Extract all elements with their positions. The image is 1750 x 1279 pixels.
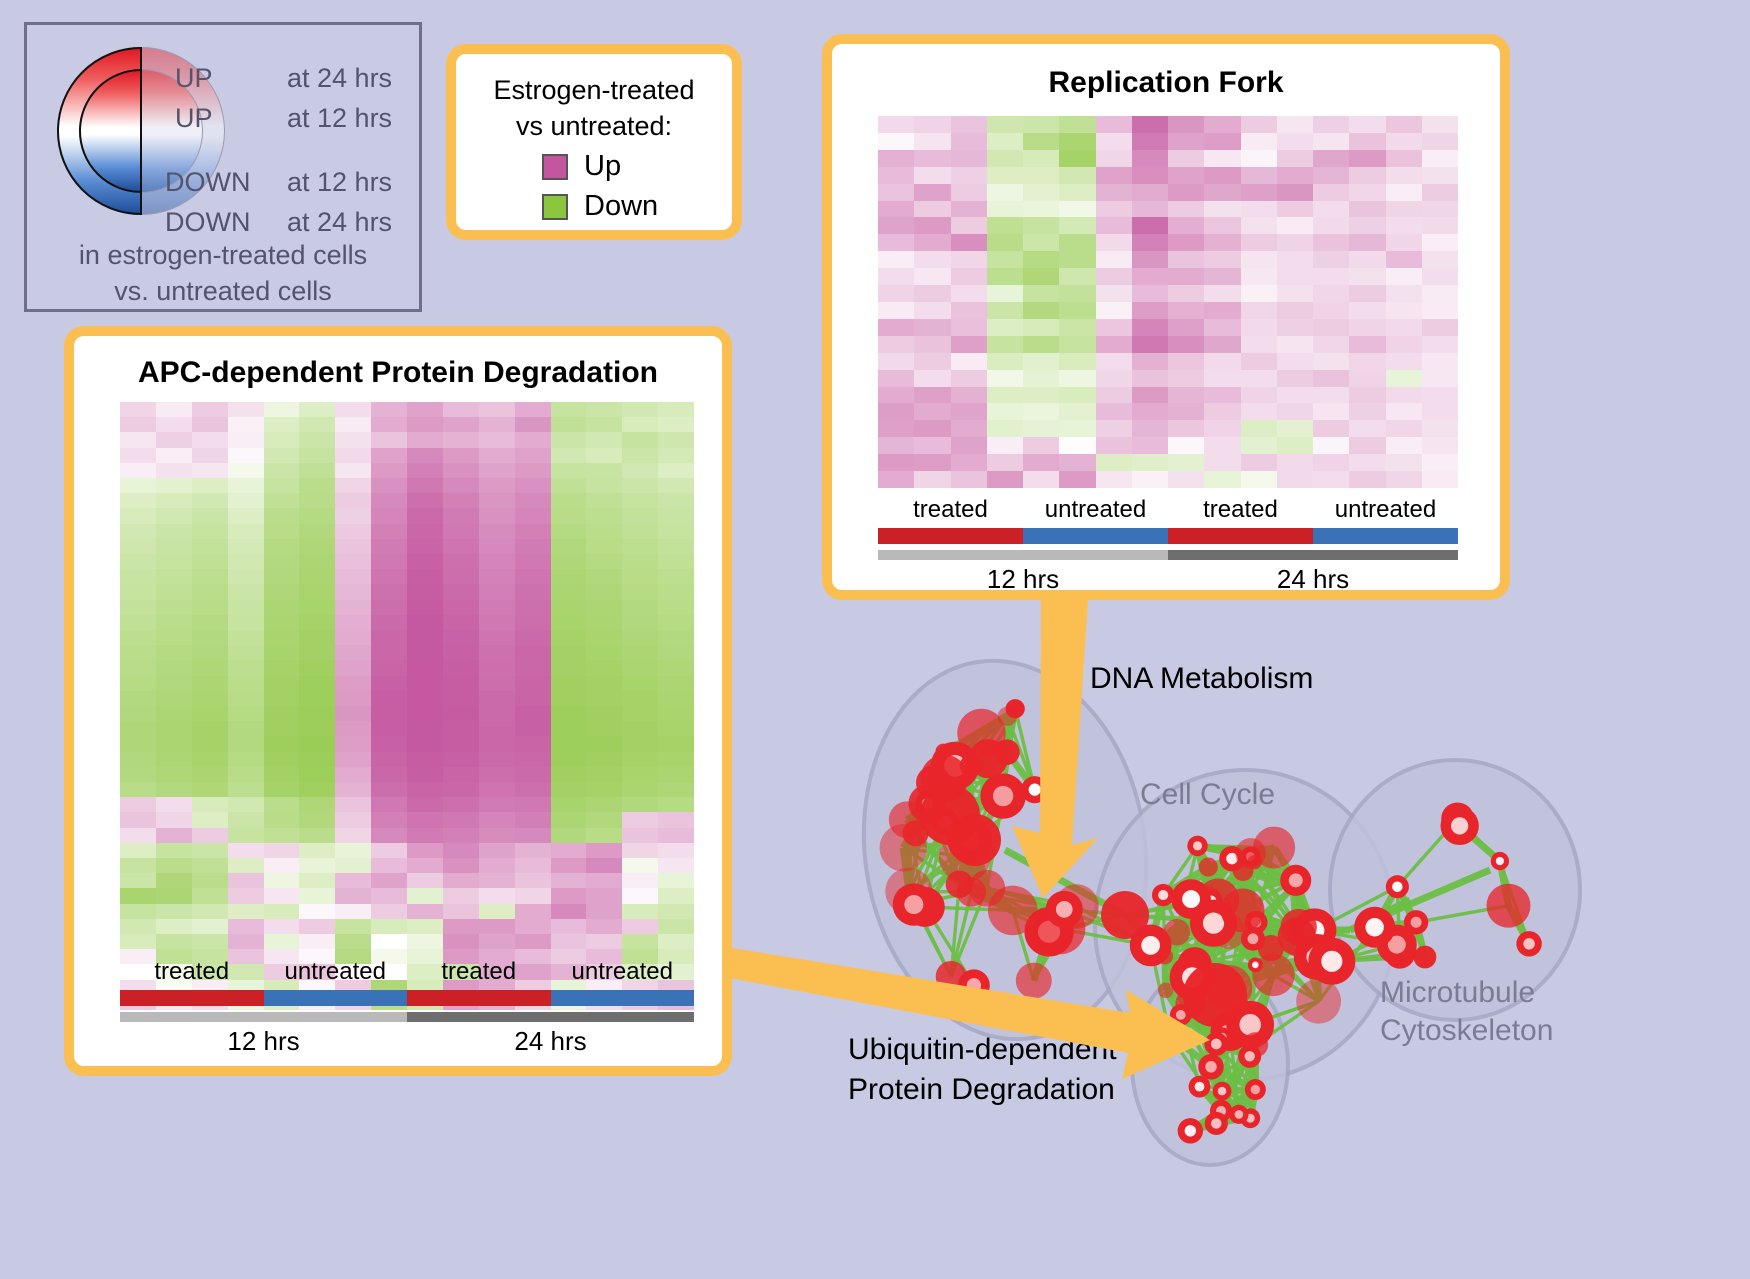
heatmap-cell bbox=[1313, 437, 1349, 454]
heatmap-cell bbox=[407, 752, 443, 767]
heatmap-cell bbox=[407, 691, 443, 706]
network-edge bbox=[1250, 1025, 1255, 1090]
network-edge bbox=[903, 848, 965, 857]
network-edge bbox=[933, 783, 945, 822]
heatmap-cell bbox=[586, 569, 622, 584]
network-edge bbox=[1163, 867, 1208, 895]
network-edge bbox=[1253, 939, 1317, 957]
heatmap-cell bbox=[192, 767, 228, 782]
heatmap-cell bbox=[1386, 471, 1422, 488]
network-edge bbox=[1177, 932, 1229, 933]
network-edge bbox=[1218, 900, 1243, 911]
heatmap-cell bbox=[1422, 353, 1458, 370]
heatmap-cell bbox=[479, 873, 515, 888]
heatmap-cell bbox=[407, 782, 443, 797]
heatmap-cell bbox=[1132, 387, 1168, 404]
heatmap-cell bbox=[228, 600, 264, 615]
network-edge bbox=[1192, 932, 1229, 978]
network-edge bbox=[1191, 964, 1195, 1003]
heatmap-cell bbox=[914, 353, 950, 370]
updown-title-line2: vs untreated: bbox=[456, 108, 732, 144]
heatmap-cell bbox=[228, 828, 264, 843]
network-edge bbox=[909, 815, 950, 891]
heatmap-cell bbox=[192, 828, 228, 843]
heatmap-cell bbox=[228, 691, 264, 706]
heatmap-cell bbox=[1386, 454, 1422, 471]
heatmap-cell bbox=[914, 167, 950, 184]
heatmap-cell bbox=[622, 645, 658, 660]
heatmap-cell bbox=[914, 454, 950, 471]
cluster-halo-dna-metabolism bbox=[840, 642, 1170, 1057]
network-edge bbox=[1243, 871, 1253, 939]
heatmap-cell bbox=[443, 584, 479, 599]
network-edge bbox=[933, 783, 1003, 796]
network-edge bbox=[943, 733, 981, 751]
network-node bbox=[1491, 852, 1509, 870]
heatmap-cell bbox=[1132, 437, 1168, 454]
treatment-segment-1 bbox=[264, 990, 408, 1006]
cluster-halo-ubiquitin bbox=[1132, 965, 1288, 1165]
heatmap-cell bbox=[1277, 319, 1313, 336]
network-bridge-edge bbox=[1125, 915, 1215, 995]
heatmap-cell bbox=[878, 133, 914, 150]
network-edge bbox=[1201, 919, 1255, 965]
heatmap-cell bbox=[228, 888, 264, 903]
network-edge bbox=[1163, 895, 1213, 923]
network-node bbox=[1191, 909, 1211, 929]
network-node bbox=[1016, 963, 1052, 999]
network-node-core bbox=[1187, 956, 1202, 971]
network-edge bbox=[1211, 1067, 1239, 1115]
network-edge bbox=[1209, 859, 1232, 899]
apc-title: APC-dependent Protein Degradation bbox=[74, 356, 722, 390]
heatmap-cell bbox=[515, 828, 551, 843]
network-edge bbox=[1198, 846, 1243, 910]
network-edge bbox=[950, 759, 988, 815]
heatmap-cell bbox=[658, 797, 694, 812]
heatmap-cell bbox=[192, 660, 228, 675]
heatmap-cell bbox=[987, 268, 1023, 285]
heatmap-cell bbox=[120, 721, 156, 736]
network-node-core bbox=[1195, 1082, 1205, 1092]
time-segment-1 bbox=[407, 1012, 694, 1022]
heatmap-cell bbox=[1349, 133, 1385, 150]
heatmap-cell bbox=[479, 402, 515, 417]
heatmap-cell bbox=[1386, 403, 1422, 420]
network-node bbox=[1164, 919, 1190, 945]
network-edge bbox=[1199, 1056, 1249, 1086]
heatmap-cell bbox=[1059, 437, 1095, 454]
network-edge bbox=[1177, 922, 1256, 932]
network-node-core bbox=[1211, 1118, 1221, 1128]
network-edge bbox=[1177, 932, 1253, 939]
network-edge bbox=[1243, 880, 1296, 910]
network-edge bbox=[903, 840, 975, 848]
heatmap-cell bbox=[1422, 319, 1458, 336]
heatmap-cell bbox=[515, 645, 551, 660]
heatmap-cell bbox=[1204, 370, 1240, 387]
network-node-core bbox=[922, 798, 933, 809]
network-edge bbox=[909, 822, 945, 891]
network-edge bbox=[1211, 901, 1242, 911]
heatmap-cell bbox=[156, 478, 192, 493]
heatmap-cell bbox=[371, 782, 407, 797]
heatmap-cell bbox=[658, 843, 694, 858]
heatmap-cell bbox=[515, 706, 551, 721]
heatmap-cell bbox=[479, 858, 515, 873]
network-node-core bbox=[1235, 1110, 1244, 1119]
heatmap-cell bbox=[192, 752, 228, 767]
treatment-segment-3 bbox=[551, 990, 695, 1006]
network-bridge-edge bbox=[1215, 930, 1260, 995]
heatmap-cell bbox=[120, 660, 156, 675]
network-edge bbox=[1209, 898, 1214, 923]
network-node-core bbox=[1158, 890, 1168, 900]
updown-title-line1: Estrogen-treated bbox=[456, 72, 732, 108]
heatmap-cell bbox=[228, 539, 264, 554]
figure-canvas: UP at 24 hrs UP at 12 hrs DOWN at 12 hrs… bbox=[0, 0, 1750, 1279]
heatmap-cell bbox=[156, 569, 192, 584]
heatmap-cell bbox=[1096, 370, 1132, 387]
heatmap-cell bbox=[1422, 251, 1458, 268]
heatmap-cell bbox=[1422, 387, 1458, 404]
heatmap-cell bbox=[1096, 150, 1132, 167]
heatmap-cell bbox=[299, 782, 335, 797]
heatmap-cell bbox=[443, 736, 479, 751]
heatmap-cell bbox=[156, 736, 192, 751]
network-edge bbox=[1251, 853, 1296, 880]
heatmap-cell bbox=[586, 752, 622, 767]
heatmap-cell bbox=[987, 420, 1023, 437]
heatmap-cell bbox=[1096, 302, 1132, 319]
heatmap-cell bbox=[443, 417, 479, 432]
heatmap-cell bbox=[443, 858, 479, 873]
rf-group-label-1: untreated bbox=[1023, 496, 1168, 524]
heatmap-cell bbox=[407, 645, 443, 660]
heatmap-cell bbox=[515, 539, 551, 554]
heatmap-cell bbox=[622, 934, 658, 949]
heatmap-cell bbox=[1241, 403, 1277, 420]
wheel-footer-line2: vs. untreated cells bbox=[27, 273, 419, 309]
network-edge bbox=[1251, 853, 1255, 862]
network-node bbox=[1280, 865, 1311, 896]
network-edge bbox=[950, 766, 955, 815]
heatmap-cell bbox=[1168, 336, 1204, 353]
network-edge bbox=[927, 796, 1003, 803]
heatmap-cell bbox=[551, 569, 587, 584]
heatmap-cell bbox=[515, 402, 551, 417]
network-edge bbox=[1181, 1003, 1191, 1015]
heatmap-cell bbox=[1422, 184, 1458, 201]
heatmap-cell bbox=[299, 828, 335, 843]
network-edge bbox=[1297, 927, 1375, 936]
heatmap-cell bbox=[914, 319, 950, 336]
heatmap-cell bbox=[586, 706, 622, 721]
network-edge bbox=[1209, 898, 1256, 922]
network-edge bbox=[955, 766, 975, 840]
wheel-key-down-24: DOWN bbox=[165, 207, 250, 238]
heatmap-cell bbox=[1204, 251, 1240, 268]
heatmap-cell bbox=[1132, 370, 1168, 387]
heatmap-cell bbox=[120, 524, 156, 539]
heatmap-cell bbox=[1349, 319, 1385, 336]
heatmap-cell bbox=[987, 319, 1023, 336]
network-edge bbox=[1250, 1001, 1318, 1025]
heatmap-cell bbox=[479, 508, 515, 523]
network-node bbox=[1170, 1004, 1192, 1026]
heatmap-cell bbox=[1313, 285, 1349, 302]
network-node bbox=[1280, 909, 1316, 945]
heatmap-cell bbox=[264, 904, 300, 919]
network-node bbox=[957, 709, 1005, 757]
network-edge bbox=[1216, 1056, 1249, 1123]
network-edge bbox=[1271, 948, 1317, 957]
network-edge bbox=[1208, 862, 1254, 867]
heatmap-cell bbox=[335, 660, 371, 675]
network-edge bbox=[955, 716, 1007, 766]
network-edge bbox=[1199, 1087, 1238, 1115]
network-node bbox=[1178, 947, 1212, 981]
heatmap-cell bbox=[1132, 167, 1168, 184]
heatmap-cell bbox=[228, 934, 264, 949]
heatmap-cell bbox=[1422, 268, 1458, 285]
network-node bbox=[1171, 879, 1211, 919]
network-edge bbox=[909, 857, 965, 891]
heatmap-cell bbox=[622, 812, 658, 827]
network-node-core bbox=[1211, 1039, 1222, 1050]
heatmap-cell bbox=[371, 721, 407, 736]
network-edge bbox=[1192, 975, 1273, 977]
heatmap-cell bbox=[1023, 403, 1059, 420]
heatmap-cell bbox=[1422, 150, 1458, 167]
heatmap-cell bbox=[1349, 387, 1385, 404]
network-edge bbox=[1256, 1001, 1319, 1045]
network-node bbox=[980, 773, 1025, 818]
heatmap-cell bbox=[878, 319, 914, 336]
heatmap-cell bbox=[622, 493, 658, 508]
heatmap-cell bbox=[1204, 234, 1240, 251]
heatmap-cell bbox=[479, 782, 515, 797]
network-edge bbox=[1232, 848, 1274, 859]
network-edge bbox=[927, 752, 1006, 803]
network-edge bbox=[928, 804, 975, 840]
network-edge bbox=[1218, 853, 1251, 899]
heatmap-cell bbox=[987, 353, 1023, 370]
heatmap-cell bbox=[1132, 268, 1168, 285]
heatmap-cell bbox=[443, 676, 479, 691]
heatmap-cell bbox=[1313, 370, 1349, 387]
network-edge bbox=[1195, 932, 1229, 964]
network-edge bbox=[1250, 857, 1253, 939]
network-edge bbox=[1250, 857, 1256, 923]
heatmap-cell bbox=[156, 767, 192, 782]
heatmap-cell bbox=[192, 493, 228, 508]
network-edge bbox=[914, 822, 945, 905]
heatmap-cell bbox=[987, 370, 1023, 387]
heatmap-cell bbox=[228, 493, 264, 508]
heatmap-cell bbox=[299, 676, 335, 691]
heatmap-cell bbox=[914, 471, 950, 488]
network-node-core bbox=[1306, 947, 1327, 968]
network-node bbox=[968, 870, 1005, 907]
heatmap-cell bbox=[1313, 454, 1349, 471]
network-edge bbox=[1151, 900, 1218, 946]
network-edge bbox=[1296, 880, 1317, 957]
network-edge bbox=[1317, 957, 1319, 1001]
network-edge bbox=[987, 888, 1013, 910]
heatmap-cell bbox=[622, 736, 658, 751]
network-edge bbox=[1190, 1090, 1255, 1131]
network-edge bbox=[1214, 862, 1255, 923]
network-edge bbox=[1243, 871, 1297, 937]
heatmap-cell bbox=[987, 454, 1023, 471]
network-edge bbox=[1151, 932, 1177, 945]
network-edge bbox=[1230, 1025, 1250, 1032]
network-edge bbox=[1003, 709, 1015, 796]
network-edge bbox=[1191, 899, 1243, 910]
network-edge bbox=[928, 804, 950, 815]
heatmap-cell bbox=[987, 251, 1023, 268]
network-node bbox=[932, 808, 959, 835]
heatmap-cell bbox=[264, 888, 300, 903]
heatmap-cell bbox=[914, 370, 950, 387]
network-node-core bbox=[1221, 1023, 1239, 1041]
heatmap-cell bbox=[299, 402, 335, 417]
network-edge bbox=[1191, 859, 1232, 899]
cluster-label-ubiquitin-degradation: Ubiquitin-dependent Protein Degradation bbox=[848, 1030, 1117, 1110]
heatmap-cell bbox=[192, 432, 228, 447]
heatmap-cell bbox=[1422, 403, 1458, 420]
heatmap-cell bbox=[299, 797, 335, 812]
network-edge bbox=[1034, 932, 1049, 981]
network-edge bbox=[1274, 848, 1314, 931]
network-edge bbox=[1243, 910, 1253, 938]
network-edge bbox=[1177, 901, 1211, 933]
heatmap-cell bbox=[228, 767, 264, 782]
network-node bbox=[880, 824, 927, 871]
network-node-core bbox=[1523, 938, 1534, 949]
heatmap-cell bbox=[1349, 336, 1385, 353]
network-node-core bbox=[1251, 917, 1261, 927]
heatmap-cell bbox=[299, 843, 335, 858]
heatmap-cell bbox=[551, 615, 587, 630]
heatmap-cell bbox=[335, 843, 371, 858]
network-edge bbox=[1222, 1056, 1250, 1091]
network-edge bbox=[927, 766, 971, 804]
heatmap-cell bbox=[622, 463, 658, 478]
network-edge bbox=[1229, 965, 1255, 988]
heatmap-cell bbox=[951, 201, 987, 218]
heatmap-cell bbox=[299, 630, 335, 645]
heatmap-cell bbox=[443, 904, 479, 919]
heatmap-cell bbox=[335, 645, 371, 660]
network-edge bbox=[1163, 895, 1195, 964]
network-edge bbox=[1255, 848, 1274, 863]
network-edge bbox=[1163, 857, 1250, 896]
cluster-label-cell-cycle: Cell Cycle bbox=[1140, 778, 1275, 812]
heatmap-cell bbox=[1132, 285, 1168, 302]
network-edge bbox=[955, 759, 988, 766]
network-edge bbox=[1232, 859, 1255, 863]
heatmap-cell bbox=[407, 600, 443, 615]
network-edge bbox=[1060, 929, 1151, 946]
heatmap-cell bbox=[515, 736, 551, 751]
network-edge bbox=[1163, 895, 1242, 910]
heatmap-cell bbox=[120, 463, 156, 478]
network-edge bbox=[1215, 932, 1229, 995]
network-edge bbox=[1191, 965, 1256, 1003]
heatmap-cell bbox=[335, 508, 371, 523]
heatmap-cell bbox=[987, 133, 1023, 150]
heatmap-cell bbox=[878, 184, 914, 201]
apc-group-label-1: untreated bbox=[264, 958, 408, 986]
heatmap-cell bbox=[479, 615, 515, 630]
heatmap-cell bbox=[1096, 133, 1132, 150]
network-edge bbox=[944, 779, 1034, 790]
network-node bbox=[1293, 908, 1337, 952]
heatmap-cell bbox=[551, 858, 587, 873]
heatmap-cell bbox=[1059, 217, 1095, 234]
heatmap-cell bbox=[120, 736, 156, 751]
heatmap-cell bbox=[551, 706, 587, 721]
heatmap-cell bbox=[479, 843, 515, 858]
network-edge bbox=[971, 892, 1064, 909]
heatmap-cell bbox=[299, 919, 335, 934]
network-edge bbox=[1214, 880, 1296, 923]
heatmap-cell bbox=[1313, 268, 1349, 285]
heatmap-cell bbox=[299, 873, 335, 888]
heatmap-cell bbox=[622, 448, 658, 463]
network-edge bbox=[1165, 956, 1255, 965]
network-node-core bbox=[944, 755, 966, 777]
heatmap-cell bbox=[1023, 319, 1059, 336]
heatmap-cell bbox=[1422, 167, 1458, 184]
network-edge bbox=[1201, 919, 1214, 923]
network-edge bbox=[1211, 1067, 1250, 1118]
network-edge bbox=[1195, 900, 1218, 964]
network-edge bbox=[1125, 901, 1211, 915]
network-edge bbox=[1256, 922, 1317, 957]
heatmap-cell bbox=[1204, 336, 1240, 353]
network-edge bbox=[1253, 937, 1297, 939]
network-node bbox=[1210, 1012, 1249, 1051]
network-edge bbox=[916, 804, 928, 834]
network-edge bbox=[1243, 862, 1255, 910]
heatmap-cell bbox=[551, 873, 587, 888]
network-edge bbox=[1191, 899, 1201, 919]
heatmap-cell bbox=[622, 691, 658, 706]
network-edge bbox=[925, 840, 970, 907]
heatmap-cell bbox=[1241, 370, 1277, 387]
heatmap-cell bbox=[551, 736, 587, 751]
heatmap-cell bbox=[515, 660, 551, 675]
network-node-core bbox=[1193, 841, 1202, 850]
heatmap-cell bbox=[1168, 234, 1204, 251]
heatmap-cell bbox=[586, 812, 622, 827]
network-edge bbox=[1230, 948, 1271, 1031]
network-edge bbox=[1163, 895, 1191, 899]
network-edge bbox=[1229, 932, 1274, 975]
network-edge bbox=[1177, 932, 1195, 964]
heatmap-cell bbox=[658, 508, 694, 523]
heatmap-cell bbox=[443, 630, 479, 645]
heatmap-cell bbox=[1241, 319, 1277, 336]
heatmap-cell bbox=[335, 615, 371, 630]
heatmap-cell bbox=[192, 873, 228, 888]
heatmap-cell bbox=[551, 843, 587, 858]
network-node-core bbox=[1206, 896, 1216, 906]
heatmap-cell bbox=[407, 873, 443, 888]
